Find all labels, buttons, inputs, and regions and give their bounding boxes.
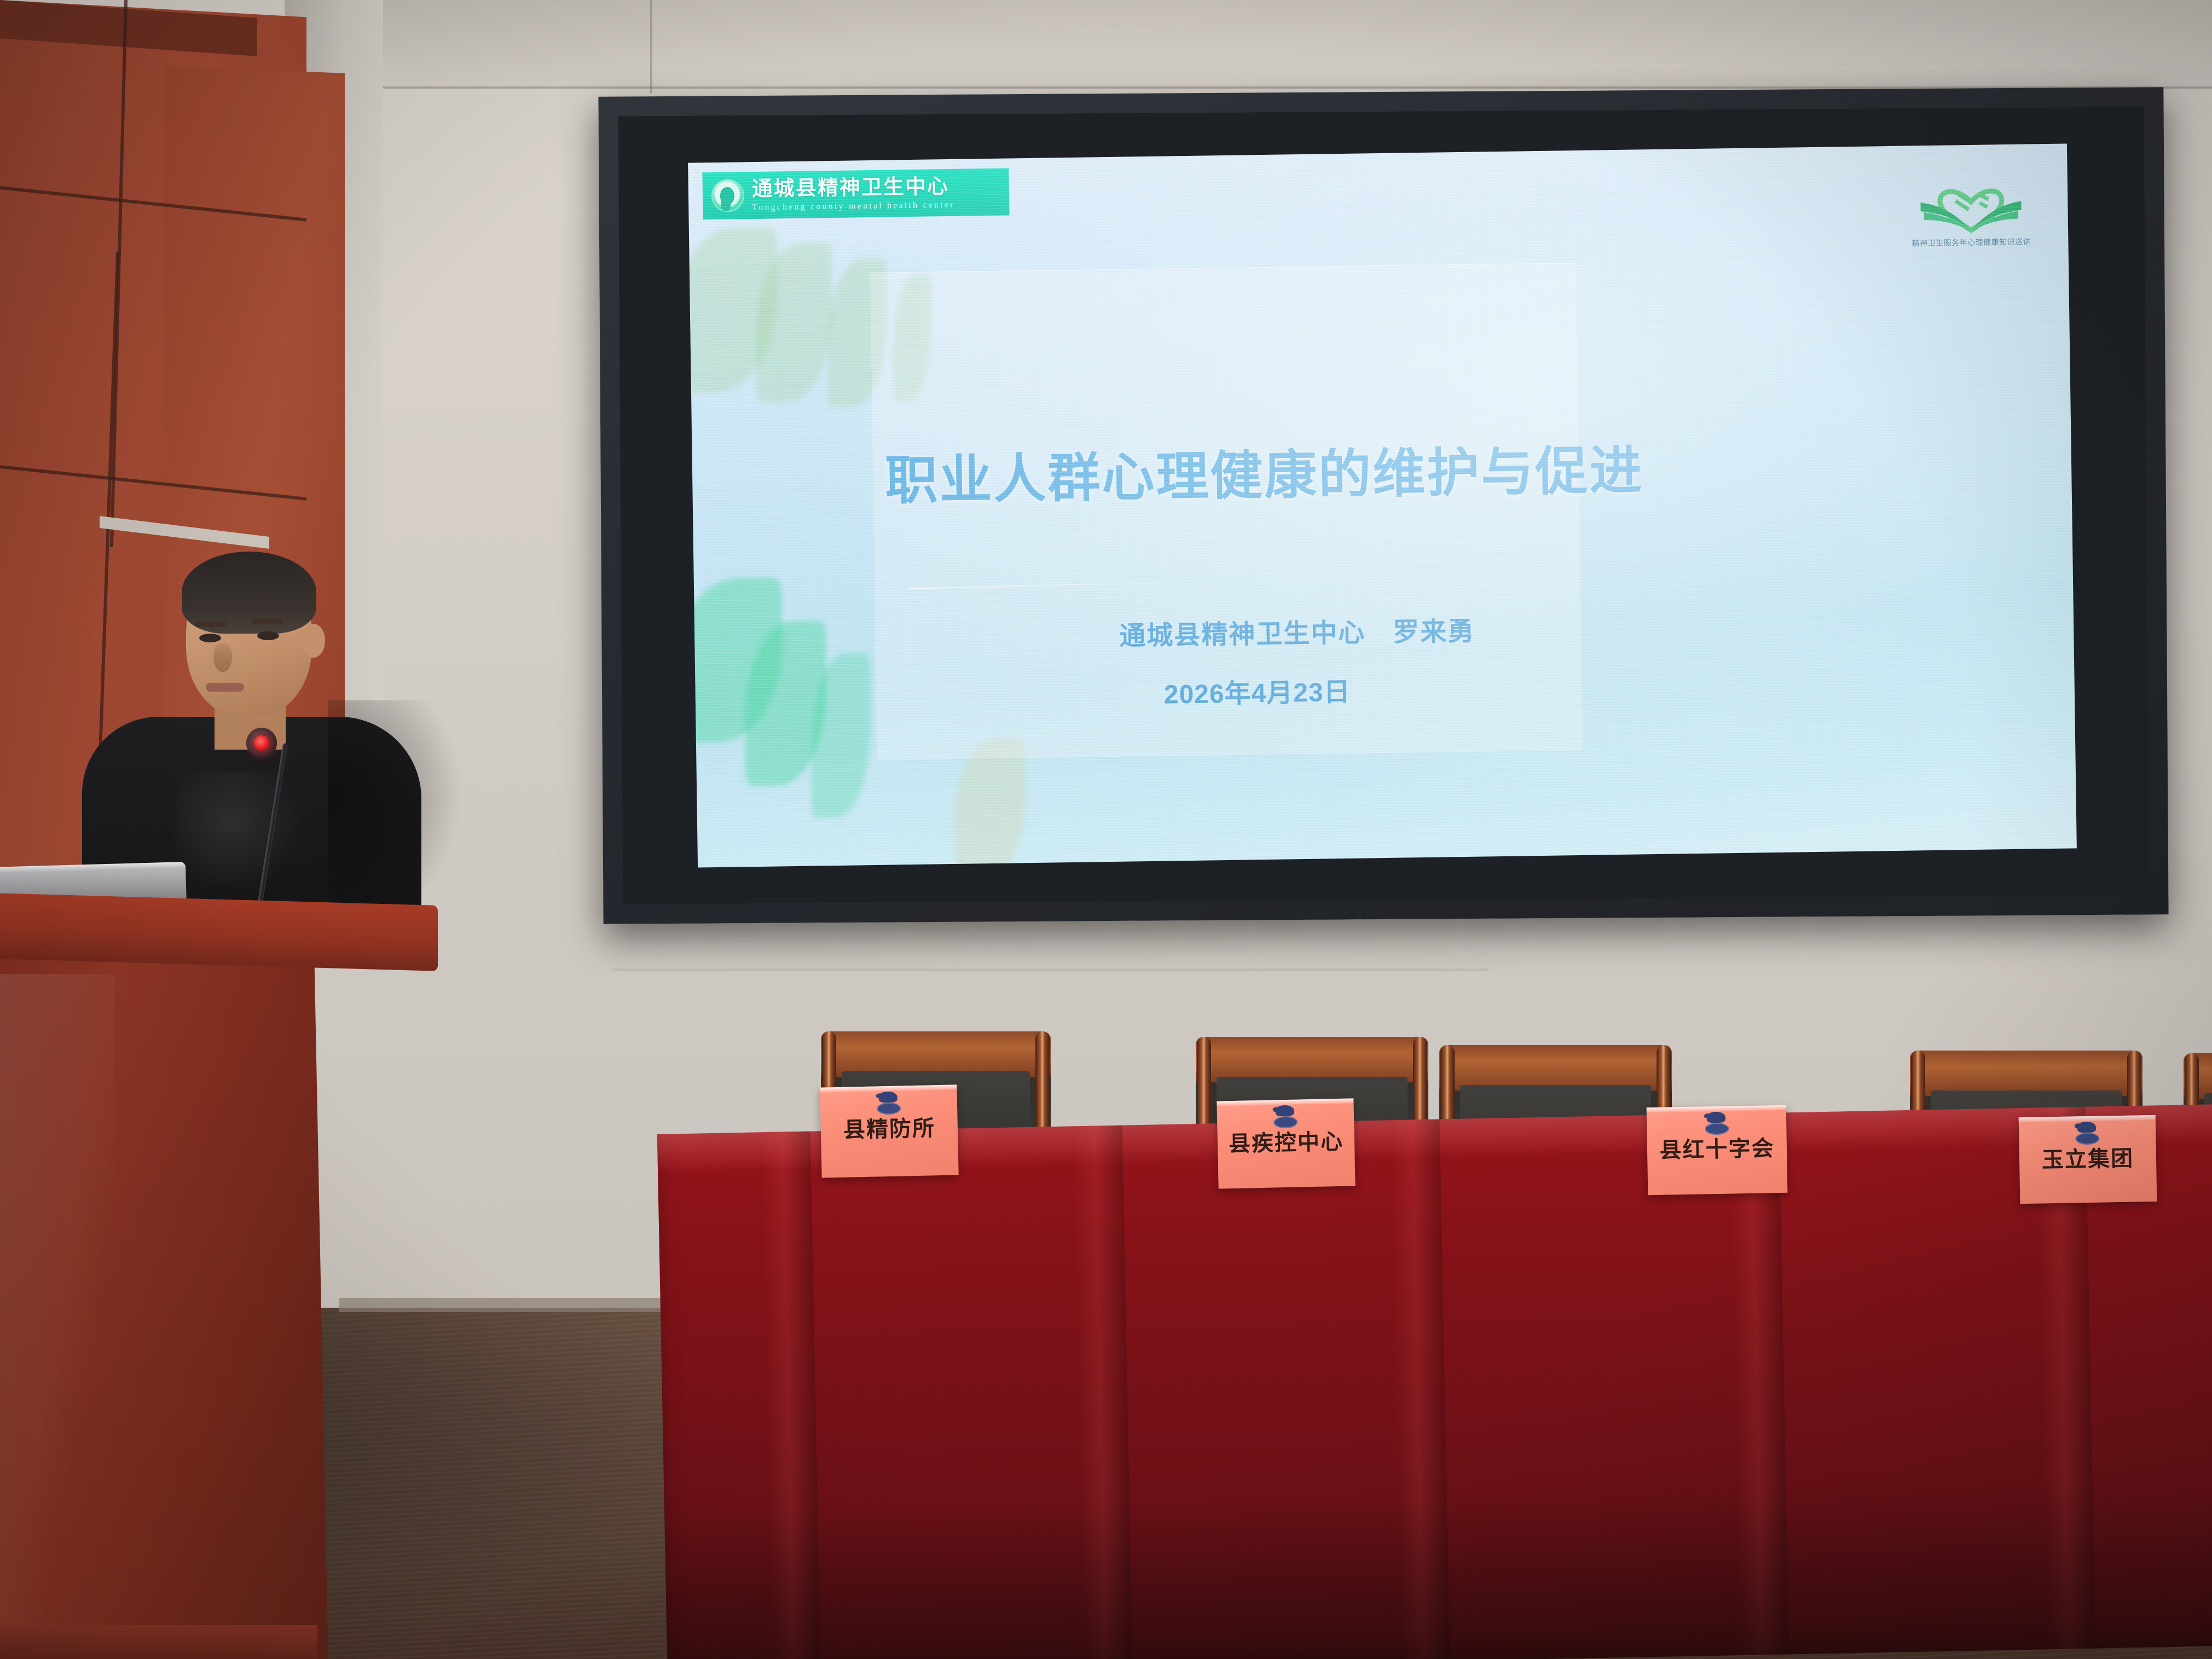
chair-top-rail bbox=[1919, 1051, 2133, 1096]
heart-over-book-icon bbox=[1908, 172, 2035, 235]
speaker-eye bbox=[257, 631, 279, 640]
speaker-nose bbox=[213, 643, 232, 672]
mental-health-center-emblem-icon bbox=[711, 179, 745, 212]
projection-screen[interactable]: 通城县精神卫生中心 Tongcheng county mental health… bbox=[598, 87, 2168, 924]
speaker-eye bbox=[199, 634, 221, 642]
ox-emblem-icon bbox=[1702, 1112, 1731, 1136]
chair-top-rail bbox=[1205, 1037, 1419, 1082]
wall-seam-vertical bbox=[650, 0, 652, 93]
conference-room-photo: 通城县精神卫生中心 Tongcheng county mental health… bbox=[0, 0, 2212, 1659]
ox-emblem-icon bbox=[2073, 1122, 2102, 1146]
slide-date: 2026年4月23日 bbox=[1163, 670, 1351, 711]
name-card-label: 县精防所 bbox=[843, 1117, 936, 1142]
podium-top-surface bbox=[0, 889, 438, 971]
ox-emblem-icon bbox=[1271, 1105, 1300, 1129]
speaker-mouth bbox=[206, 683, 244, 692]
slide-title: 职业人群心理健康的维护与促进 bbox=[884, 428, 1580, 514]
podium bbox=[0, 897, 438, 1659]
microphone-led-indicator bbox=[254, 735, 269, 751]
cloth-shadow bbox=[664, 1481, 2212, 1659]
campaign-caption: 精神卫生服务年心理健康知识巡讲 bbox=[1908, 236, 2034, 248]
head-table-cloth bbox=[657, 1104, 2212, 1659]
name-card-label: 县疾控中心 bbox=[1229, 1130, 1344, 1156]
presentation-slide: 通城县精神卫生中心 Tongcheng county mental health… bbox=[688, 143, 2077, 867]
slide-presenter: 通城县精神卫生中心 罗来勇 bbox=[1119, 610, 1475, 653]
ox-emblem-icon bbox=[874, 1091, 903, 1116]
speaker-brow bbox=[252, 618, 283, 624]
podium-base bbox=[0, 1625, 317, 1659]
name-card-label: 县红十字会 bbox=[1659, 1137, 1775, 1162]
name-card[interactable]: 县疾控中心 bbox=[1217, 1098, 1355, 1188]
campaign-logo: 精神卫生服务年心理健康知识巡讲 bbox=[1908, 172, 2035, 248]
chair-top-rail bbox=[830, 1031, 1041, 1077]
name-card[interactable]: 玉立集团 bbox=[2019, 1115, 2157, 1204]
slide-banner: 通城县精神卫生中心 Tongcheng county mental health… bbox=[702, 168, 1009, 219]
name-card-label: 玉立集团 bbox=[2042, 1147, 2134, 1172]
chair-top-rail bbox=[1449, 1045, 1663, 1090]
screen-inner-frame: 通城县精神卫生中心 Tongcheng county mental health… bbox=[618, 107, 2149, 904]
banner-cn-name: 通城县精神卫生中心 bbox=[752, 176, 955, 199]
name-card[interactable]: 县红十字会 bbox=[1647, 1105, 1788, 1195]
banner-text-block: 通城县精神卫生中心 Tongcheng county mental health… bbox=[752, 176, 955, 212]
speaker-brow bbox=[195, 622, 227, 627]
banner-en-name: Tongcheng county mental health center bbox=[752, 200, 955, 212]
name-card[interactable]: 县精防所 bbox=[820, 1084, 958, 1177]
wall-upper-band bbox=[339, 0, 2212, 88]
speaker-shirt-print bbox=[175, 772, 301, 897]
wall-seam-lower bbox=[613, 968, 1489, 971]
podium-sheen bbox=[0, 974, 115, 1631]
speaker-ear bbox=[302, 624, 325, 658]
